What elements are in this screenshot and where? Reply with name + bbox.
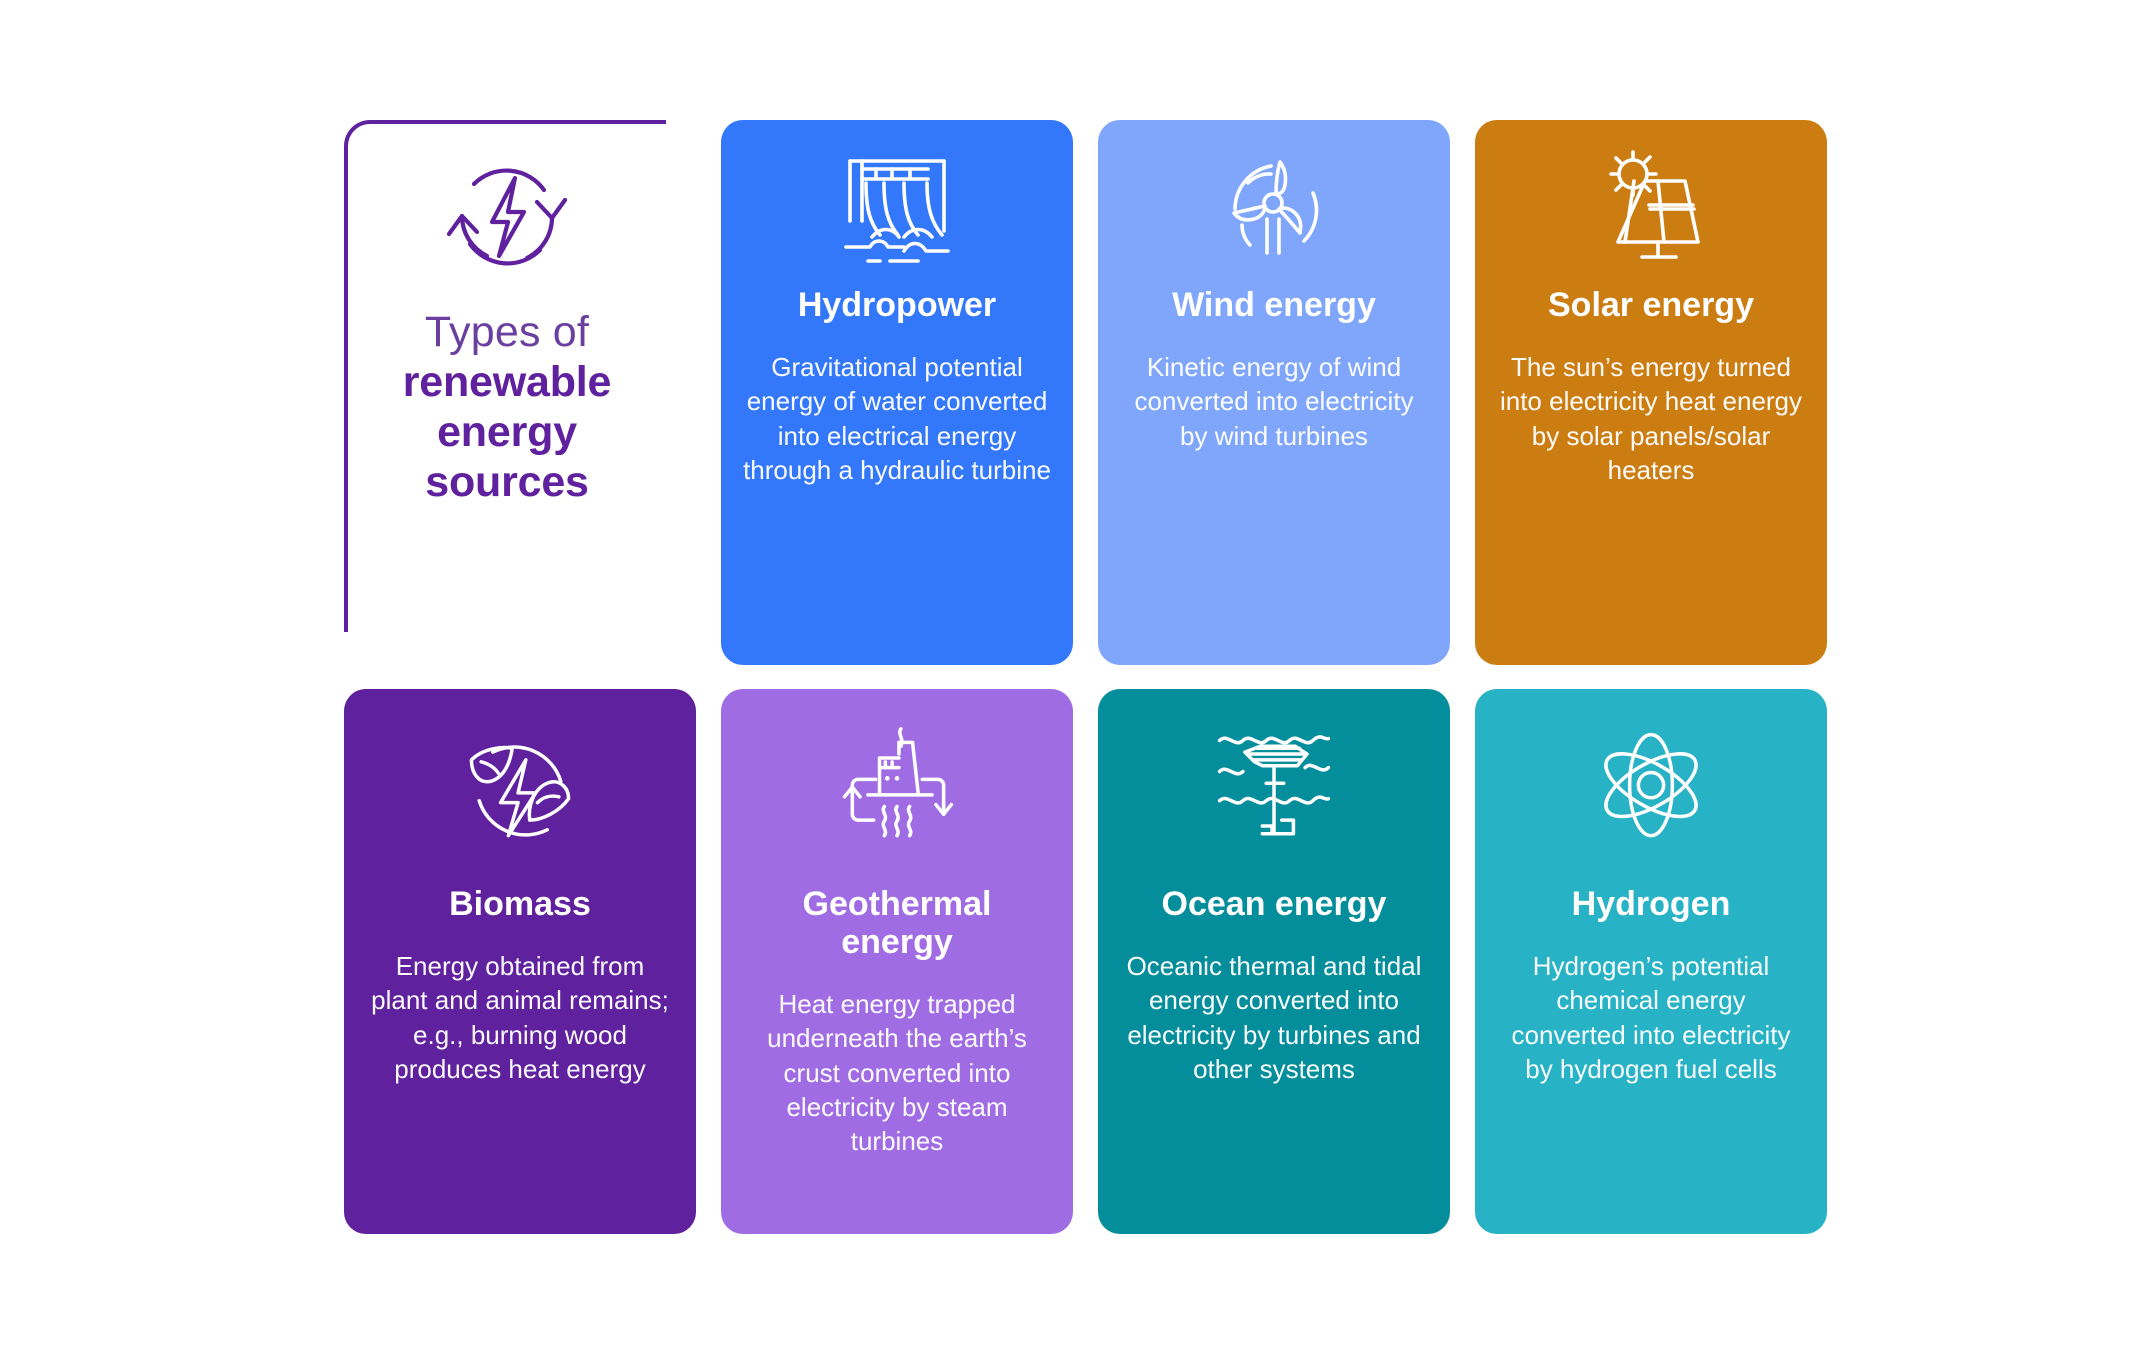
card-description: Gravitational potential energy of water … — [743, 350, 1051, 487]
card-wind-energy[interactable]: Wind energy Kinetic energy of wind conve… — [1098, 120, 1450, 665]
leaf-bolt-circle-icon — [452, 715, 588, 865]
card-title: Solar energy — [1548, 286, 1754, 324]
card-description: The sun’s energy turned into electricity… — [1497, 350, 1805, 487]
renewable-cycle-bolt-icon — [432, 142, 582, 292]
title-line-bold-1: renewable — [403, 358, 612, 406]
infographic-root: Types of renewable energy sources — [0, 0, 2153, 1353]
energy-sources-grid: Types of renewable energy sources — [344, 120, 1824, 1234]
title-line-light: Types of — [403, 308, 612, 356]
card-title: Geothermal energy — [743, 885, 1051, 961]
card-solar-energy[interactable]: Solar energy The sun’s energy turned int… — [1475, 120, 1827, 665]
card-description: Hydrogen’s potential chemical energy con… — [1497, 949, 1805, 1086]
card-title: Biomass — [449, 885, 591, 923]
page-title: Types of renewable energy sources — [403, 308, 612, 507]
wind-turbine-icon — [1206, 146, 1342, 272]
geothermal-plant-icon — [829, 715, 965, 865]
hydro-dam-icon — [829, 146, 965, 272]
card-hydropower[interactable]: Hydropower Gravitational potential energ… — [721, 120, 1073, 665]
card-biomass[interactable]: Biomass Energy obtained from plant and a… — [344, 689, 696, 1234]
tidal-turbine-wave-icon — [1206, 715, 1342, 865]
title-line-bold-3: sources — [403, 458, 612, 506]
card-description: Heat energy trapped underneath the earth… — [743, 987, 1051, 1159]
card-description: Oceanic thermal and tidal energy convert… — [1120, 949, 1428, 1086]
card-description: Kinetic energy of wind converted into el… — [1120, 350, 1428, 453]
atom-icon — [1583, 715, 1719, 865]
card-geothermal-energy[interactable]: Geothermal energy Heat energy trapped un… — [721, 689, 1073, 1234]
card-hydrogen[interactable]: Hydrogen Hydrogen’s potential chemical e… — [1475, 689, 1827, 1234]
title-line-bold-2: energy — [403, 408, 612, 456]
title-block: Types of renewable energy sources — [344, 120, 696, 665]
card-title: Hydropower — [798, 286, 996, 324]
solar-panel-sun-icon — [1583, 146, 1719, 272]
card-description: Energy obtained from plant and animal re… — [366, 949, 674, 1086]
card-title: Hydrogen — [1572, 885, 1731, 923]
card-ocean-energy[interactable]: Ocean energy Oceanic thermal and tidal e… — [1098, 689, 1450, 1234]
card-title: Ocean energy — [1162, 885, 1387, 923]
card-title: Wind energy — [1172, 286, 1376, 324]
